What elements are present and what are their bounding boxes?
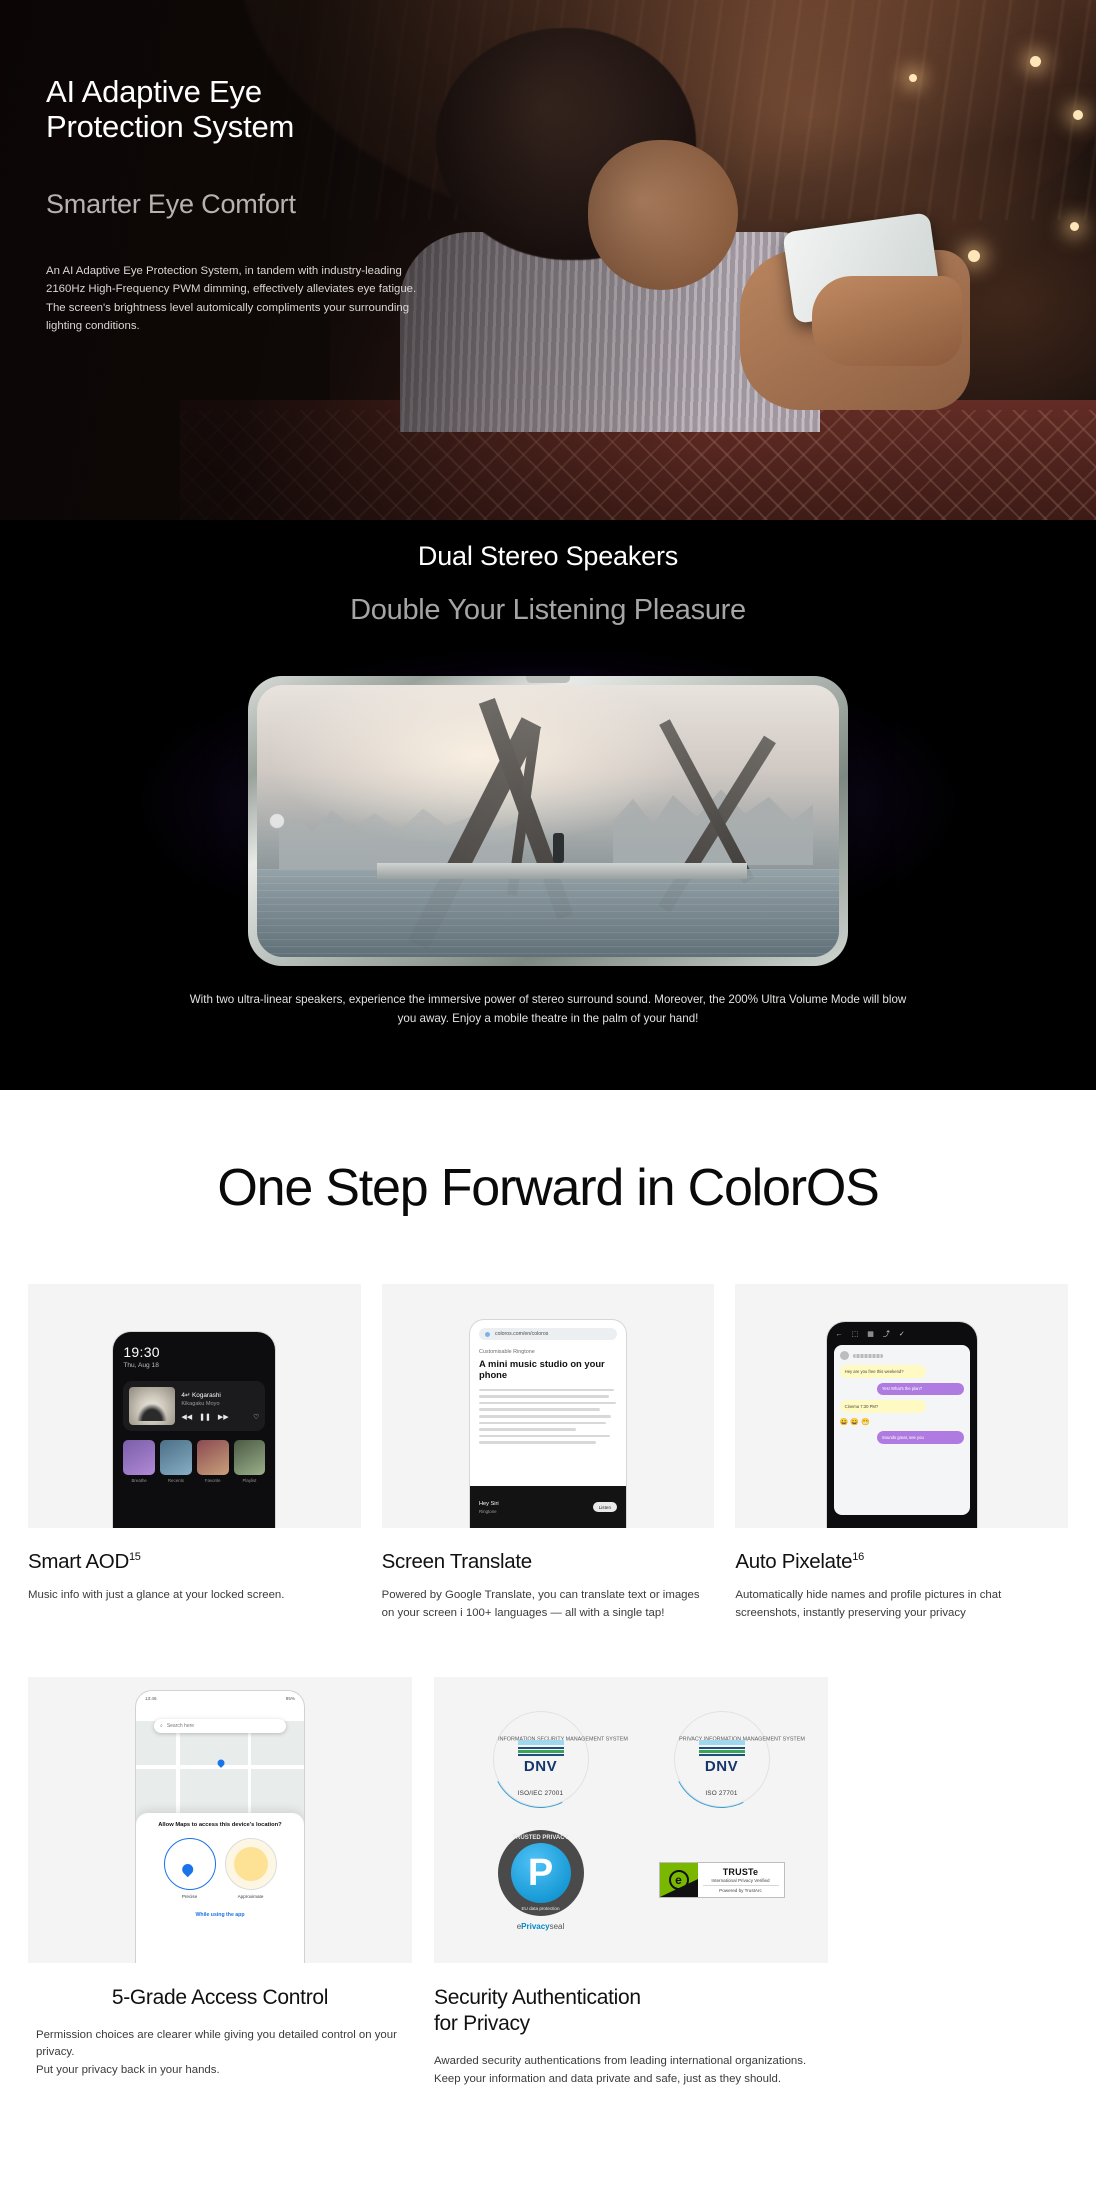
eprivacy-seal-graphic: TRUSTED PRIVACY P EU data protection <box>498 1830 584 1916</box>
badge-truste: e TRUSTe International Privacy Verified … <box>659 1862 785 1898</box>
speakers-subtitle: Double Your Listening Pleasure <box>0 594 1096 627</box>
eprivacy-bottom-text: EU data protection <box>498 1906 584 1911</box>
badge-eprivacyseal: TRUSTED PRIVACY P EU data protection ePr… <box>498 1830 584 1931</box>
dnv-wordmark: DNV <box>518 1758 564 1775</box>
search-placeholder: Search here <box>167 1723 194 1729</box>
phone-screen <box>257 685 839 957</box>
screenshot-toolbar[interactable]: ← ⬚ ▦ ⤴ ✓ <box>827 1329 977 1345</box>
precise-pin-icon <box>179 1862 195 1878</box>
feature-card-screen-translate: coloros.com/en/coloros Customisable Ring… <box>382 1284 715 1623</box>
eprivacy-top-text: TRUSTED PRIVACY <box>498 1835 584 1841</box>
status-bar: 13:46 95% <box>136 1691 304 1701</box>
article-body-lines <box>479 1389 617 1444</box>
aod-shortcut-row <box>123 1440 265 1475</box>
feature-desc-smart-aod: Music info with just a glance at your lo… <box>28 1587 361 1605</box>
aod-shortcut[interactable] <box>123 1440 155 1475</box>
approximate-area-icon <box>234 1847 268 1881</box>
share-icon[interactable]: ⤴ <box>883 1329 890 1339</box>
ringtone-subtitle: Ringtone <box>479 1509 499 1514</box>
approximate-location-graphic <box>225 1838 277 1890</box>
eprivacy-label-privacy: Privacy <box>521 1922 549 1931</box>
precise-location-graphic <box>164 1838 216 1890</box>
next-icon[interactable]: ▶▶ <box>218 1413 229 1421</box>
aod-shortcut-label: Playlist <box>234 1478 266 1483</box>
aod-artist-name: Kikagaku Moyo <box>181 1401 259 1407</box>
dnv-standard-label: ISO/IEC 27001 <box>494 1790 588 1797</box>
screen-translate-media: coloros.com/en/coloros Customisable Ring… <box>382 1284 715 1528</box>
favorite-heart-icon[interactable]: ♡ <box>253 1413 259 1421</box>
emoji-row: 😀😄😁 <box>840 1418 964 1426</box>
browser-address-bar[interactable]: coloros.com/en/coloros <box>479 1328 617 1340</box>
feature-title-auto-pixelate: Auto Pixelate16 <box>735 1550 1068 1574</box>
game-water-reflection <box>257 869 839 957</box>
aod-shortcut[interactable] <box>234 1440 266 1475</box>
footnote-marker: 16 <box>852 1551 864 1563</box>
security-title-line-2: for Privacy <box>434 2012 530 2035</box>
feature-desc-access-control: Permission choices are clearer while giv… <box>28 2027 412 2080</box>
status-time: 13:46 <box>145 1696 157 1701</box>
option-label: Precise <box>164 1894 216 1899</box>
aod-date: Thu, Aug 18 <box>123 1362 265 1369</box>
chat-bubble: Hey are you free this weekend? <box>840 1365 927 1378</box>
while-using-app-button[interactable]: While using the app <box>146 1909 294 1921</box>
speakers-description-wrap: With two ultra-linear speakers, experien… <box>0 990 1096 1029</box>
coloros-heading: One Step Forward in ColorOS <box>0 1158 1096 1218</box>
chat-bubble: Sounds great, see you <box>877 1431 964 1444</box>
chat-bubble: Yes! What's the plan? <box>877 1383 964 1396</box>
coloros-feature-grid: 19:30 Thu, Aug 18 4↵ Kogarashi Kikagaku … <box>0 1284 1096 1623</box>
aod-song-title: 4↵ Kogarashi <box>181 1391 259 1399</box>
hero-title: AI Adaptive Eye Protection System <box>46 74 516 145</box>
ringtone-meta: Hey Siri Ringtone <box>479 1501 499 1514</box>
feature-card-access-control: 13:46 95% ⌕ Search here <box>28 1677 412 2080</box>
aod-transport-controls[interactable]: ◀◀ ❚❚ ▶▶ ♡ <box>181 1413 259 1421</box>
security-auth-media: INFORMATION SECURITY MANAGEMENT SYSTEM <box>434 1677 828 1963</box>
hero-copy-block: AI Adaptive Eye Protection System Smarte… <box>46 74 516 336</box>
aod-shortcut[interactable] <box>160 1440 192 1475</box>
aod-track-meta: 4↵ Kogarashi Kikagaku Moyo ◀◀ ❚❚ ▶▶ ♡ <box>181 1391 259 1421</box>
permission-option-precise[interactable]: Precise <box>164 1838 216 1899</box>
status-battery: 95% <box>286 1696 295 1701</box>
permission-question: Allow Maps to access this device's locat… <box>146 1822 294 1830</box>
aod-shortcut[interactable] <box>197 1440 229 1475</box>
translate-phone-mockup: coloros.com/en/coloros Customisable Ring… <box>470 1320 626 1528</box>
certification-badges: INFORMATION SECURITY MANAGEMENT SYSTEM <box>434 1677 828 1963</box>
badge-dnv-iso-27001: INFORMATION SECURITY MANAGEMENT SYSTEM <box>489 1711 593 1807</box>
article-kicker: Customisable Ringtone <box>479 1349 617 1355</box>
option-label: Approximate <box>225 1894 277 1899</box>
dnv-logo: DNV <box>699 1740 745 1775</box>
pause-icon[interactable]: ❚❚ <box>199 1413 211 1421</box>
dnv-logo: DNV <box>518 1740 564 1775</box>
feature-desc-security-auth: Awarded security authentications from le… <box>434 2053 828 2088</box>
feature-title-security-auth: Security Authentication for Privacy <box>434 1985 828 2038</box>
feature-title-text: Smart AOD <box>28 1550 129 1573</box>
chat-header <box>840 1351 964 1360</box>
coloros-privacy-grid: 13:46 95% ⌕ Search here <box>0 1623 1096 2089</box>
truste-logo-mark: e <box>660 1863 698 1897</box>
truste-e-icon: e <box>669 1870 689 1890</box>
article-headline: A mini music studio on your phone <box>479 1358 617 1381</box>
feature-card-security-auth: INFORMATION SECURITY MANAGEMENT SYSTEM <box>434 1677 828 2089</box>
hero-subtitle: Smarter Eye Comfort <box>46 189 516 220</box>
ringtone-player-bar[interactable]: Hey Siri Ringtone Listen <box>470 1486 626 1528</box>
dnv-ring: INFORMATION SECURITY MANAGEMENT SYSTEM <box>493 1711 589 1807</box>
aod-shortcut-labels: Breathe Recents Favorite Playlist <box>123 1478 265 1483</box>
feature-title-screen-translate: Screen Translate <box>382 1550 715 1574</box>
avatar <box>840 1351 849 1360</box>
aod-shortcut-label: Breathe <box>123 1478 155 1483</box>
smart-aod-media: 19:30 Thu, Aug 18 4↵ Kogarashi Kikagaku … <box>28 1284 361 1528</box>
check-icon[interactable]: ✓ <box>899 1330 905 1338</box>
aod-shortcut-label: Favorite <box>197 1478 229 1483</box>
truste-subtitle: International Privacy Verified <box>703 1878 779 1883</box>
product-page: AI Adaptive Eye Protection System Smarte… <box>0 0 1096 2152</box>
back-icon[interactable]: ← <box>836 1331 843 1338</box>
hero-title-line-1: AI Adaptive Eye <box>46 74 262 109</box>
game-hud-icon[interactable] <box>269 813 285 829</box>
auto-pixelate-media: ← ⬚ ▦ ⤴ ✓ Hey are you free this weekend? <box>735 1284 1068 1528</box>
permission-options: Precise Approximate <box>146 1838 294 1899</box>
eprivacy-letter: P <box>511 1843 571 1903</box>
landscape-phone-mockup <box>248 676 848 966</box>
feature-desc-auto-pixelate: Automatically hide names and profile pic… <box>735 1587 1068 1623</box>
aod-music-player[interactable]: 4↵ Kogarashi Kikagaku Moyo ◀◀ ❚❚ ▶▶ ♡ <box>123 1381 265 1431</box>
aod-time: 19:30 <box>123 1344 265 1360</box>
feature-card-smart-aod: 19:30 Thu, Aug 18 4↵ Kogarashi Kikagaku … <box>28 1284 361 1605</box>
maps-permission-mockup: 13:46 95% ⌕ Search here <box>136 1691 304 1963</box>
pixelate-icon[interactable]: ▦ <box>867 1330 874 1338</box>
feature-title-text: Screen Translate <box>382 1550 532 1573</box>
coloros-section: One Step Forward in ColorOS 19:30 Thu, A… <box>0 1090 1096 2152</box>
footnote-marker: 15 <box>129 1551 141 1563</box>
eprivacy-wordmark: ePrivacyseal <box>498 1922 584 1931</box>
dnv-standard-label: ISO 27701 <box>675 1790 769 1797</box>
permission-dialog: Allow Maps to access this device's locat… <box>136 1813 304 1963</box>
truste-powered-by: Powered by TrustArc <box>703 1885 779 1893</box>
dnv-wordmark: DNV <box>699 1758 745 1775</box>
map-search-input[interactable]: ⌕ Search here <box>154 1719 286 1733</box>
hero-description: An AI Adaptive Eye Protection System, in… <box>46 262 426 336</box>
feature-title-smart-aod: Smart AOD15 <box>28 1550 361 1574</box>
ringtone-title: Hey Siri <box>479 1501 499 1507</box>
previous-icon[interactable]: ◀◀ <box>181 1413 192 1421</box>
chat-bubble: Cinema 7:30 PM? <box>840 1400 927 1413</box>
game-platform <box>377 863 747 879</box>
security-title-line-1: Security Authentication <box>434 1986 641 2009</box>
webpage-body: Customisable Ringtone A mini music studi… <box>479 1349 617 1444</box>
feature-title-text: Auto Pixelate <box>735 1550 852 1573</box>
truste-title: TRUSTe <box>703 1867 779 1877</box>
access-control-media: 13:46 95% ⌕ Search here <box>28 1677 412 1963</box>
game-character <box>553 833 564 863</box>
eprivacy-label-seal: seal <box>550 1922 565 1931</box>
dnv-colour-bars <box>699 1740 745 1756</box>
badge-dnv-iso-27701: PRIVACY INFORMATION MANAGEMENT SYSTEM <box>670 1711 774 1807</box>
speakers-description: With two ultra-linear speakers, experien… <box>188 990 908 1029</box>
lock-icon <box>485 1332 490 1337</box>
search-icon: ⌕ <box>160 1723 163 1729</box>
dual-stereo-speakers-section: Dual Stereo Speakers Double Your Listeni… <box>0 520 1096 1090</box>
feature-desc-screen-translate: Powered by Google Translate, you can tra… <box>382 1587 715 1623</box>
pixelated-name <box>853 1354 883 1358</box>
permission-option-approximate[interactable]: Approximate <box>225 1838 277 1899</box>
feature-title-access-control: 5-Grade Access Control <box>28 1985 412 2011</box>
chat-screenshot: Hey are you free this weekend? Yes! What… <box>834 1345 970 1515</box>
hero-eye-protection-section: AI Adaptive Eye Protection System Smarte… <box>0 0 1096 520</box>
hero-title-line-2: Protection System <box>46 109 294 144</box>
feature-card-auto-pixelate: ← ⬚ ▦ ⤴ ✓ Hey are you free this weekend? <box>735 1284 1068 1623</box>
aod-phone-mockup: 19:30 Thu, Aug 18 4↵ Kogarashi Kikagaku … <box>113 1332 275 1528</box>
album-art <box>129 1387 175 1425</box>
aod-shortcut-label: Recents <box>160 1478 192 1483</box>
speakers-title: Dual Stereo Speakers <box>0 541 1096 572</box>
browser-url: coloros.com/en/coloros <box>495 1331 548 1337</box>
listen-button[interactable]: Listen <box>593 1502 617 1512</box>
dnv-ring: PRIVACY INFORMATION MANAGEMENT SYSTEM <box>674 1711 770 1807</box>
pixelate-phone-mockup: ← ⬚ ▦ ⤴ ✓ Hey are you free this weekend? <box>827 1322 977 1528</box>
truste-text-block: TRUSTe International Privacy Verified Po… <box>698 1863 784 1897</box>
phone-camera-notch <box>526 676 570 683</box>
permission-actions: While using the app <box>146 1909 294 1921</box>
crop-icon[interactable]: ⬚ <box>852 1330 859 1338</box>
dnv-colour-bars <box>518 1740 564 1756</box>
